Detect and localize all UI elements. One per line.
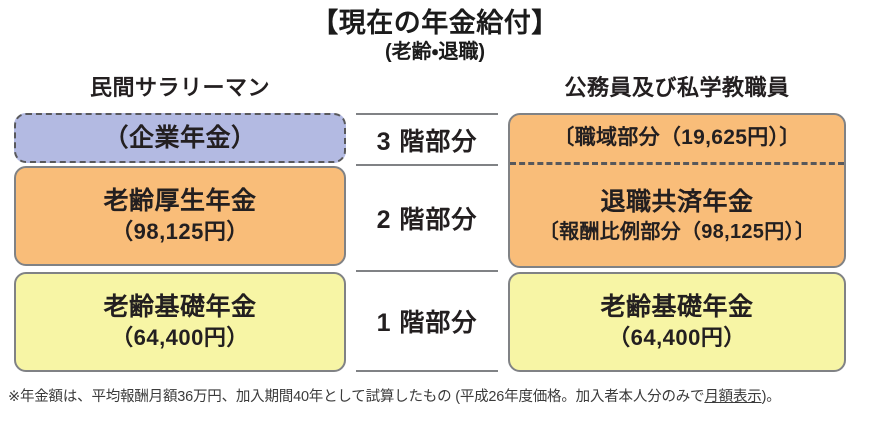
- box-mutual-aid-pension: 退職共済年金 〔報酬比例部分（98,125円）〕: [510, 165, 844, 267]
- box-basic-pension-left-label: 老齢基礎年金: [103, 293, 256, 322]
- tier-label-1: 1 階部分: [356, 272, 498, 372]
- page-subtitle: (老齢・退職): [0, 40, 870, 64]
- box-mutual-aid-pension-amount: 〔報酬比例部分（98,125円）〕: [539, 220, 815, 244]
- box-mutual-aid-pension-group: 〔職域部分（19,625円）〕 退職共済年金 〔報酬比例部分（98,125円）〕: [508, 113, 846, 268]
- footnote-underlined-term: 月額表示: [704, 389, 761, 405]
- box-occupational-portion: 〔職域部分（19,625円）〕: [510, 115, 844, 165]
- box-basic-pension-left-amount: （64,400円）: [111, 325, 249, 351]
- tier-label-3: 3 階部分: [356, 113, 498, 166]
- box-occupational-portion-label: 〔職域部分（19,625円）〕: [553, 126, 800, 150]
- box-employees-pension: 老齢厚生年金 （98,125円）: [14, 166, 346, 266]
- box-employees-pension-amount: （98,125円）: [111, 219, 249, 245]
- footnote: ※年金額は、平均報酬月額36万円、加入期間40年として試算したもの (平成26年…: [8, 388, 864, 407]
- box-basic-pension-right-label: 老齢基礎年金: [600, 293, 753, 322]
- footnote-part2: )。: [762, 389, 781, 405]
- box-mutual-aid-pension-label: 退職共済年金: [600, 188, 753, 217]
- box-basic-pension-left: 老齢基礎年金 （64,400円）: [14, 272, 346, 372]
- box-employees-pension-label: 老齢厚生年金: [103, 187, 256, 216]
- footnote-part1: ※年金額は、平均報酬月額36万円、加入期間40年として試算したもの (平成26年…: [8, 389, 704, 405]
- column-header-private-employee: 民間サラリーマン: [14, 70, 346, 102]
- box-corporate-pension-label: （企業年金）: [103, 124, 256, 153]
- box-basic-pension-right-amount: （64,400円）: [608, 325, 746, 351]
- box-basic-pension-right: 老齢基礎年金 （64,400円）: [508, 272, 846, 372]
- column-header-public-servant: 公務員及び私学教職員: [508, 70, 846, 102]
- page-title: 【現在の年金給付】: [0, 8, 870, 39]
- title-block: 【現在の年金給付】 (老齢・退職): [0, 8, 870, 64]
- box-corporate-pension: （企業年金）: [14, 113, 346, 163]
- tier-column: 3 階部分 2 階部分 1 階部分: [356, 113, 498, 372]
- tier-label-2: 2 階部分: [356, 166, 498, 272]
